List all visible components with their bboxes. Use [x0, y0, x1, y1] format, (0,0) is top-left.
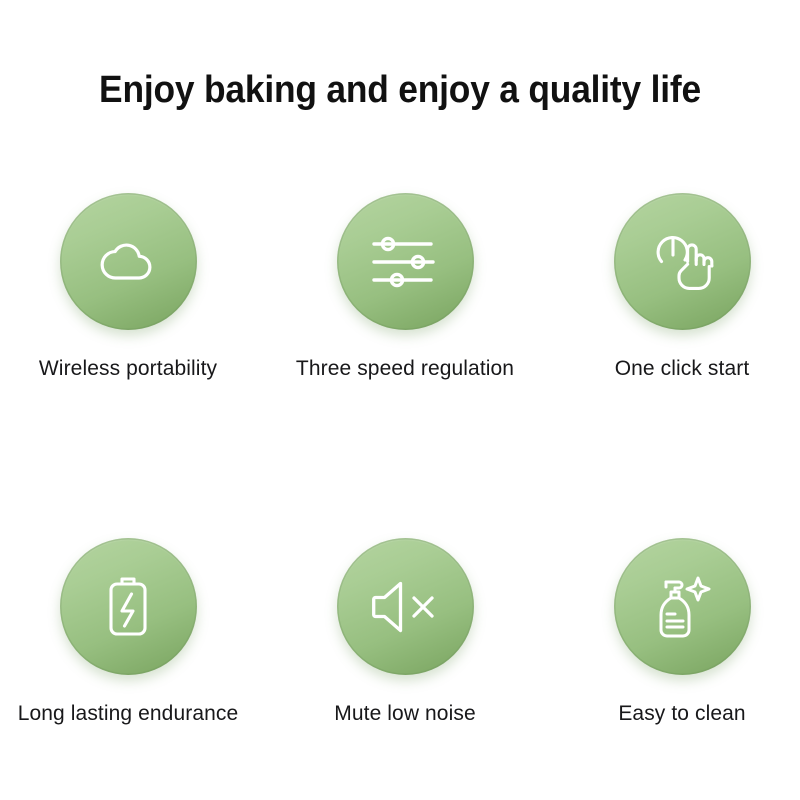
spray-bottle-sparkle-icon [651, 572, 713, 642]
cloud-icon [95, 229, 161, 295]
badge-wrap [60, 538, 197, 675]
feature-label: Wireless portability [0, 356, 261, 382]
badge-wrap [337, 193, 474, 330]
feature-label: Mute low noise [272, 701, 538, 727]
feature-badge [614, 538, 751, 675]
feature-label: Long lasting endurance [0, 701, 261, 727]
feature-badge [60, 193, 197, 330]
feature-badge [337, 193, 474, 330]
feature-grid: Wireless portability [0, 178, 800, 778]
feature-badge [614, 193, 751, 330]
feature-label: Easy to clean [549, 701, 800, 727]
badge-wrap [60, 193, 197, 330]
badge-wrap [614, 193, 751, 330]
feature-item-one-click-start[interactable]: One click start [549, 178, 800, 382]
power-tap-icon [646, 228, 718, 296]
badge-wrap [614, 538, 751, 675]
feature-badge [337, 538, 474, 675]
feature-highlight-page: Enjoy baking and enjoy a quality life Wi… [0, 0, 800, 800]
feature-label: Three speed regulation [272, 356, 538, 382]
feature-item-easy-to-clean[interactable]: Easy to clean [549, 523, 800, 727]
badge-wrap [337, 538, 474, 675]
battery-charging-icon [103, 573, 153, 641]
feature-badge [60, 538, 197, 675]
feature-item-mute-low-noise[interactable]: Mute low noise [272, 523, 538, 727]
feature-item-long-lasting-endurance[interactable]: Long lasting endurance [0, 523, 261, 727]
feature-item-wireless-portability[interactable]: Wireless portability [0, 178, 261, 382]
speaker-mute-icon [370, 578, 440, 636]
feature-item-three-speed-regulation[interactable]: Three speed regulation [272, 178, 538, 382]
feature-label: One click start [549, 356, 800, 382]
sliders-icon [371, 232, 439, 292]
page-title: Enjoy baking and enjoy a quality life [28, 68, 772, 112]
